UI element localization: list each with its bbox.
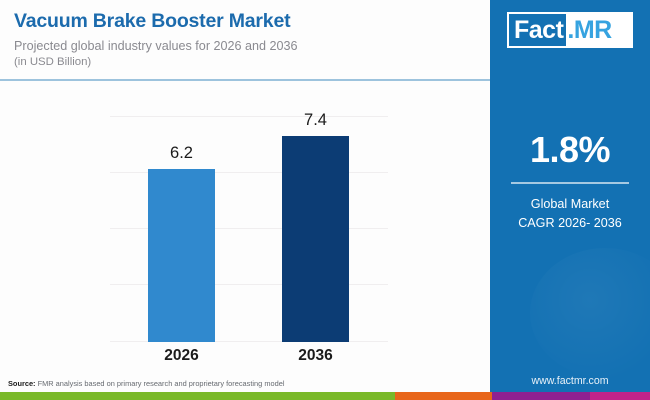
bar-2026[interactable] (148, 169, 215, 342)
cagr-stat: 1.8% Global Market CAGR 2026- 2036 (490, 132, 650, 232)
page-subtitle: Projected global industry values for 202… (14, 38, 476, 54)
bar-value-2036: 7.4 (282, 111, 349, 130)
strip-segment-magenta (590, 392, 650, 400)
website-url[interactable]: www.factmr.com (490, 375, 650, 387)
cagr-caption-line2: CAGR 2026- 2036 (490, 214, 650, 233)
factmr-logo[interactable]: Fact .MR (507, 12, 633, 48)
page-title: Vacuum Brake Booster Market (14, 11, 476, 32)
bar-2036[interactable] (282, 136, 349, 342)
cagr-caption: Global Market CAGR 2026- 2036 (490, 195, 650, 232)
cagr-value: 1.8% (490, 132, 650, 168)
source-text: FMR analysis based on primary research a… (36, 379, 285, 388)
bottom-color-strip (0, 392, 650, 400)
page-subtitle-unit: (in USD Billion) (14, 55, 476, 70)
bar-value-2026: 6.2 (148, 144, 215, 163)
strip-segment-purple (492, 392, 590, 400)
source-label: Source: (8, 379, 36, 388)
x-axis-label-2036: 2036 (282, 347, 349, 365)
cagr-caption-line1: Global Market (490, 195, 650, 214)
source-note: Source: FMR analysis based on primary re… (8, 379, 284, 388)
logo-text-mr: .MR (566, 14, 615, 46)
x-axis-labels: 2026 2036 (110, 347, 388, 371)
brand-panel: Fact .MR 1.8% Global Market CAGR 2026- 2… (490, 0, 650, 400)
header: Vacuum Brake Booster Market Projected gl… (0, 0, 490, 80)
x-axis-label-2026: 2026 (148, 347, 215, 365)
bar-chart: 6.2 7.4 (110, 116, 388, 342)
strip-segment-green (0, 392, 395, 400)
cagr-divider (511, 182, 629, 184)
strip-segment-orange (395, 392, 492, 400)
header-divider (0, 79, 490, 81)
logo-text-fact: Fact (509, 14, 566, 46)
infographic-card: Vacuum Brake Booster Market Projected gl… (0, 0, 650, 400)
chart-panel: Vacuum Brake Booster Market Projected gl… (0, 0, 490, 400)
